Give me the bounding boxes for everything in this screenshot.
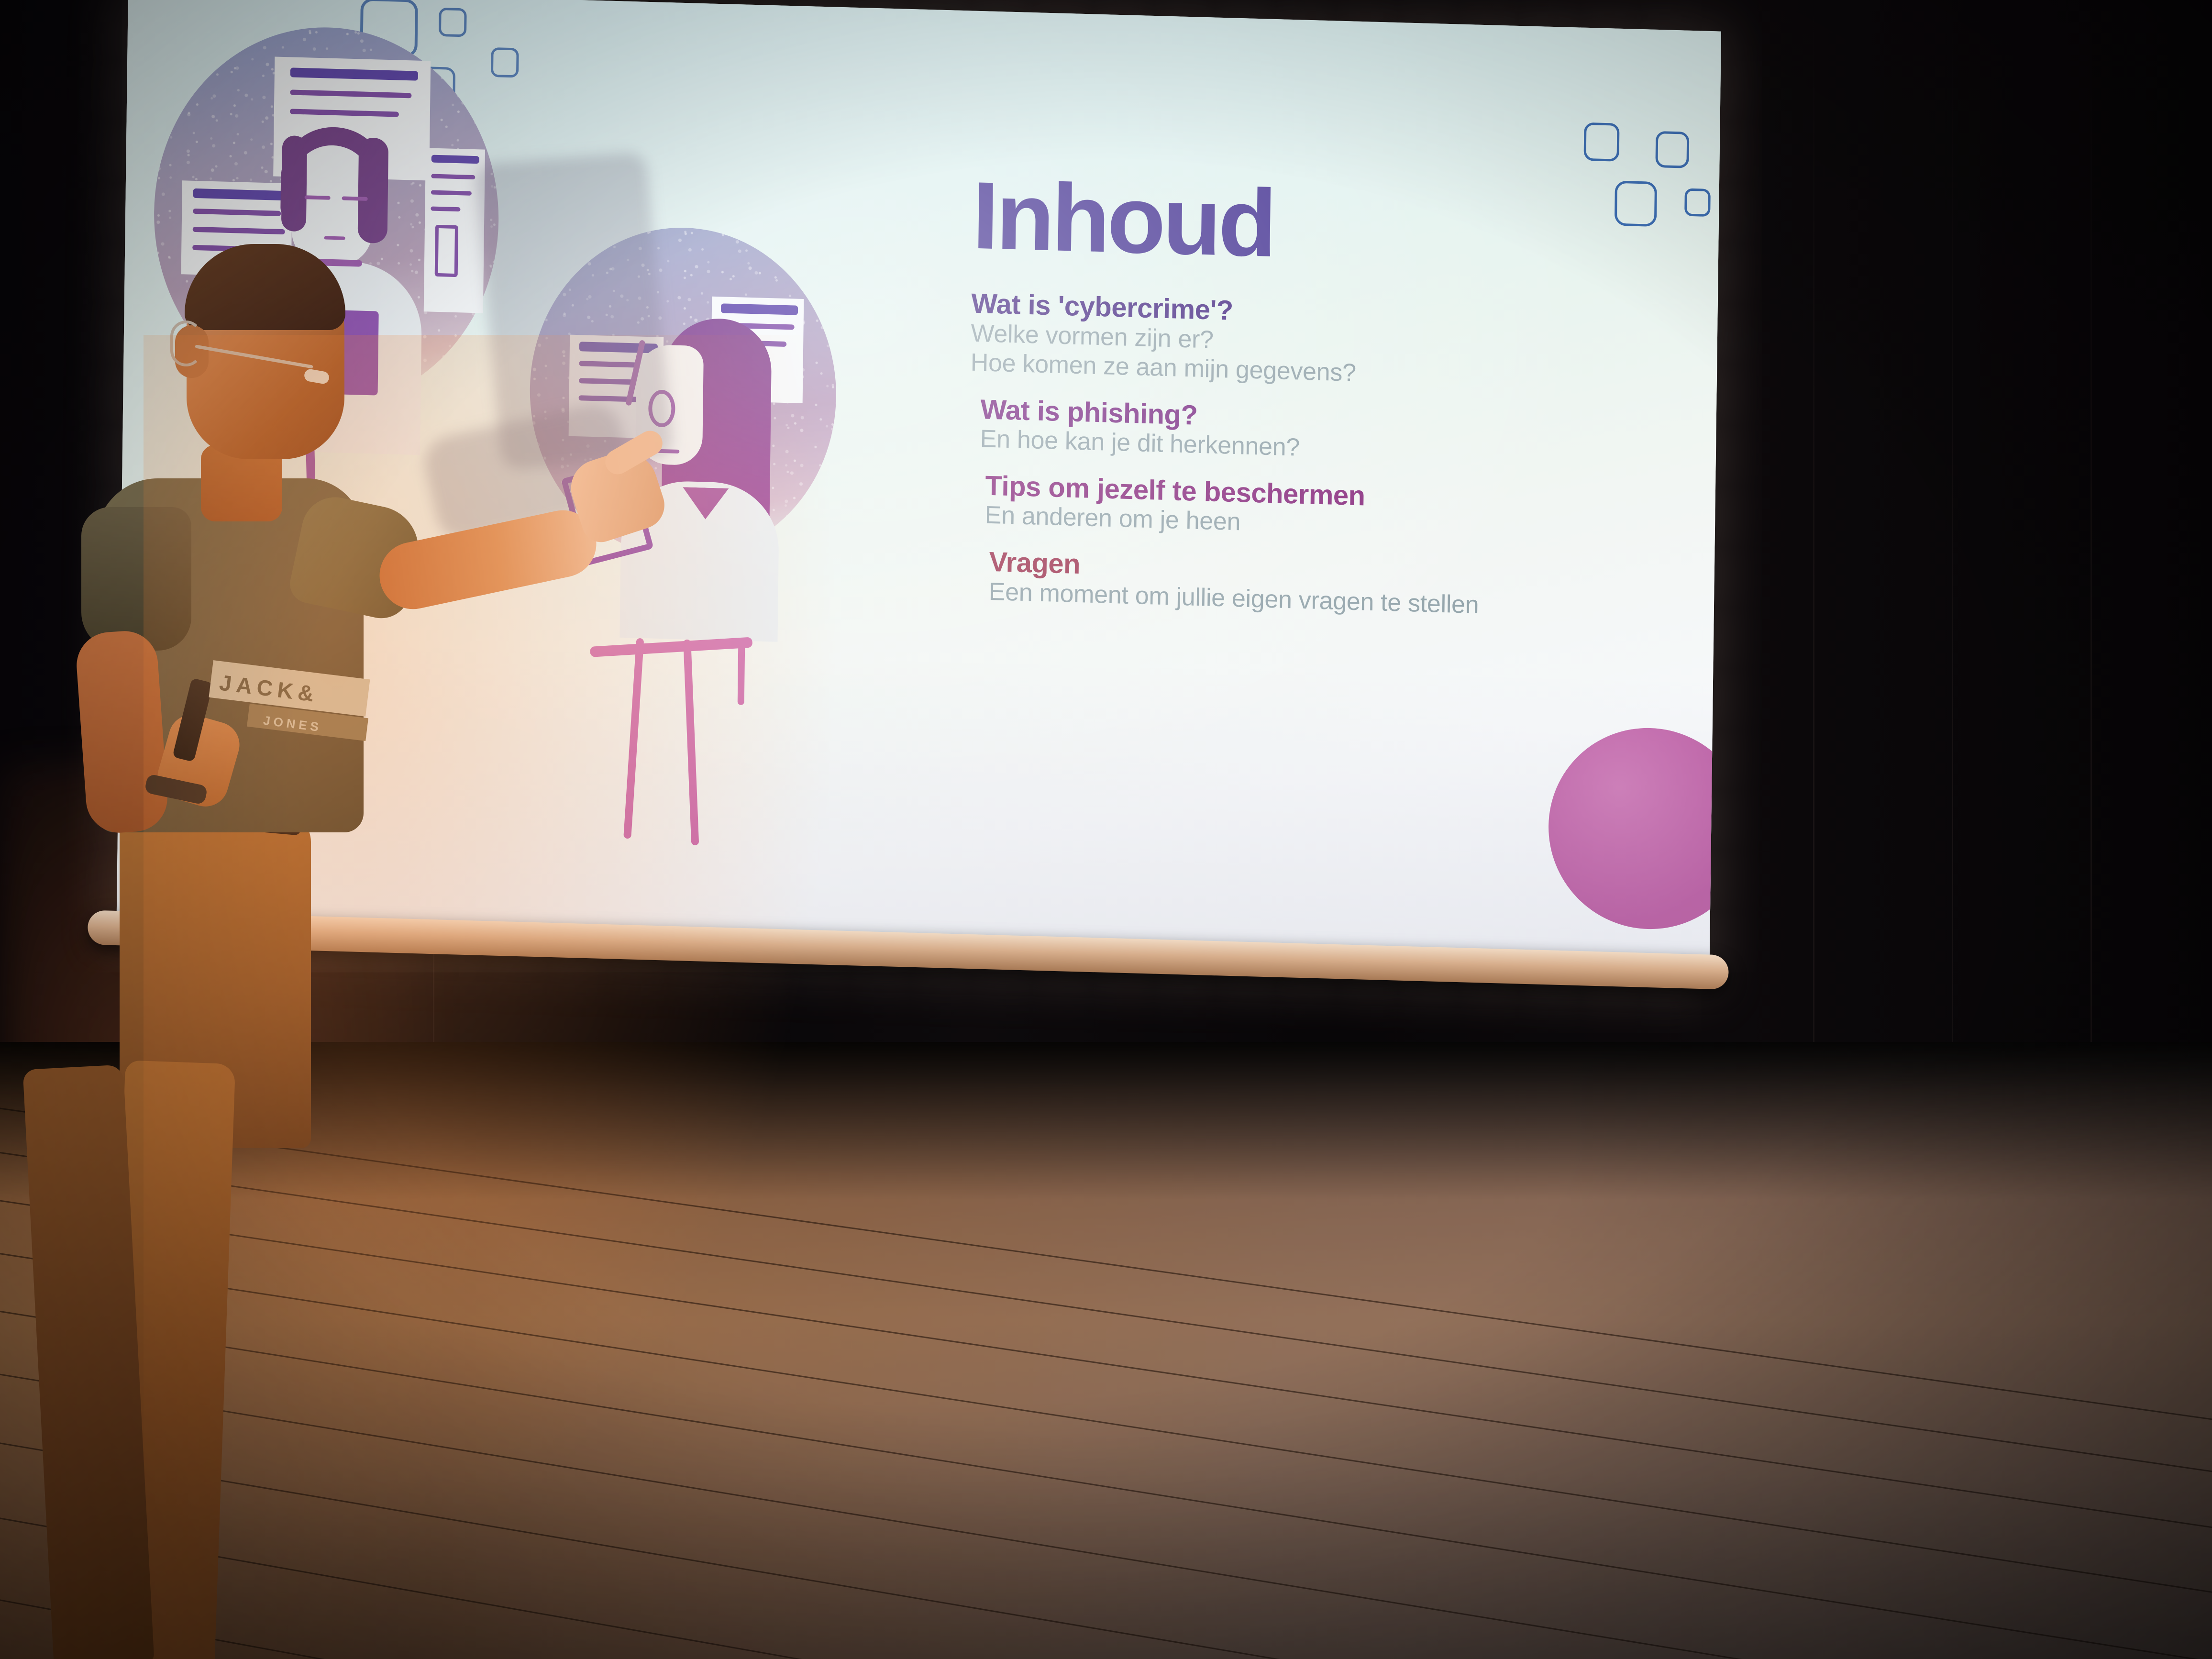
figure-eye bbox=[342, 196, 368, 200]
headset-earloop-icon bbox=[170, 321, 202, 366]
rounded-square-icon bbox=[1684, 188, 1711, 217]
figure-mouth bbox=[324, 236, 345, 240]
stage-scene: Inhoud Wat is 'cybercrime'? Welke vormen… bbox=[0, 0, 2212, 1659]
slide-text-panel: Inhoud Wat is 'cybercrime'? Welke vormen… bbox=[967, 169, 1676, 625]
rounded-square-icon bbox=[439, 8, 467, 37]
agenda-section: Tips om jezelf te beschermen En anderen … bbox=[968, 470, 1672, 549]
presenter: JACK& JONES bbox=[191, 383, 861, 1659]
rounded-square-icon bbox=[1655, 131, 1689, 168]
decorative-circle bbox=[1548, 725, 1722, 932]
figure-hair-side bbox=[358, 137, 389, 243]
rounded-square-icon bbox=[491, 47, 519, 78]
agenda-section: Wat is phishing? En hoe kan je dit herke… bbox=[969, 394, 1673, 473]
slide-title: Inhoud bbox=[972, 169, 1676, 282]
rounded-square-icon bbox=[1584, 122, 1620, 162]
figure-hair-side bbox=[281, 135, 308, 232]
message-card bbox=[424, 148, 485, 313]
agenda-section: Vragen Een moment om jullie eigen vragen… bbox=[967, 546, 1671, 626]
presenter-arm-left bbox=[75, 629, 170, 835]
agenda-section: Wat is 'cybercrime'? Welke vormen zijn e… bbox=[970, 288, 1674, 397]
figure-eye bbox=[305, 195, 331, 199]
presenter-sleeve-left bbox=[81, 507, 191, 651]
